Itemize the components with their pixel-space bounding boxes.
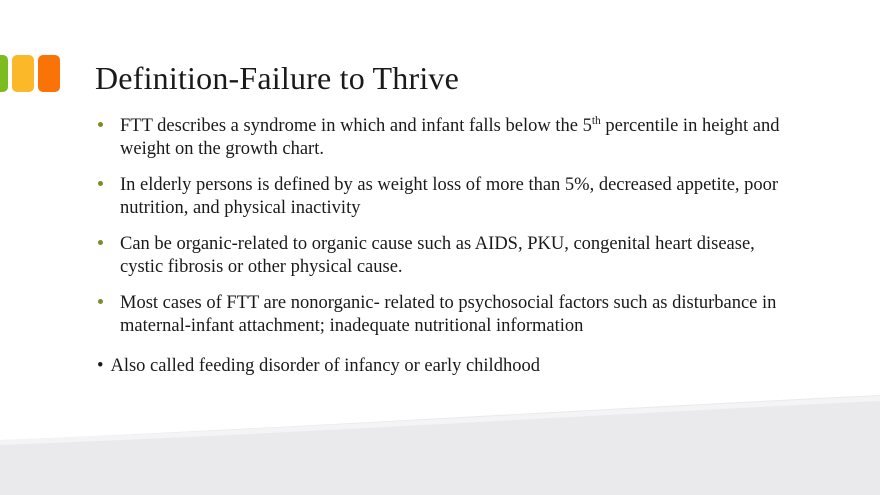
slide-title: Definition-Failure to Thrive: [95, 58, 459, 98]
list-item-text-before: FTT describes a syndrome in which and in…: [120, 116, 592, 136]
list-item-text: Can be organic-related to organic cause …: [120, 233, 792, 279]
bullet-list: FTT describes a syndrome in which and in…: [92, 115, 792, 378]
list-item-text: FTT describes a syndrome in which and in…: [120, 115, 792, 161]
list-item: Can be organic-related to organic cause …: [92, 233, 792, 279]
bottom-swoosh-decoration: [0, 385, 880, 495]
bullet-dot-icon: [98, 181, 103, 186]
list-item-text: In elderly persons is defined by as weig…: [120, 174, 792, 220]
green-square: [0, 55, 8, 92]
list-item: Most cases of FTT are nonorganic- relate…: [92, 292, 792, 338]
bullet-dot-icon: [98, 240, 103, 245]
slide-canvas: Definition-Failure to Thrive FTT describ…: [0, 0, 880, 495]
list-item-final: •Also called feeding disorder of infancy…: [92, 355, 792, 378]
ordinal-superscript: th: [592, 115, 601, 127]
list-item-text: Most cases of FTT are nonorganic- relate…: [120, 292, 792, 338]
bullet-dot-icon: [98, 122, 103, 127]
yellow-square: [12, 55, 34, 92]
list-item: FTT describes a syndrome in which and in…: [92, 115, 792, 161]
list-item: In elderly persons is defined by as weig…: [92, 174, 792, 220]
bullet-dot-icon: [98, 299, 103, 304]
bullet-glyph-icon: •: [97, 356, 103, 376]
orange-square: [38, 55, 60, 92]
list-item-text: Also called feeding disorder of infancy …: [110, 356, 539, 376]
header-accent-squares: [0, 55, 60, 92]
